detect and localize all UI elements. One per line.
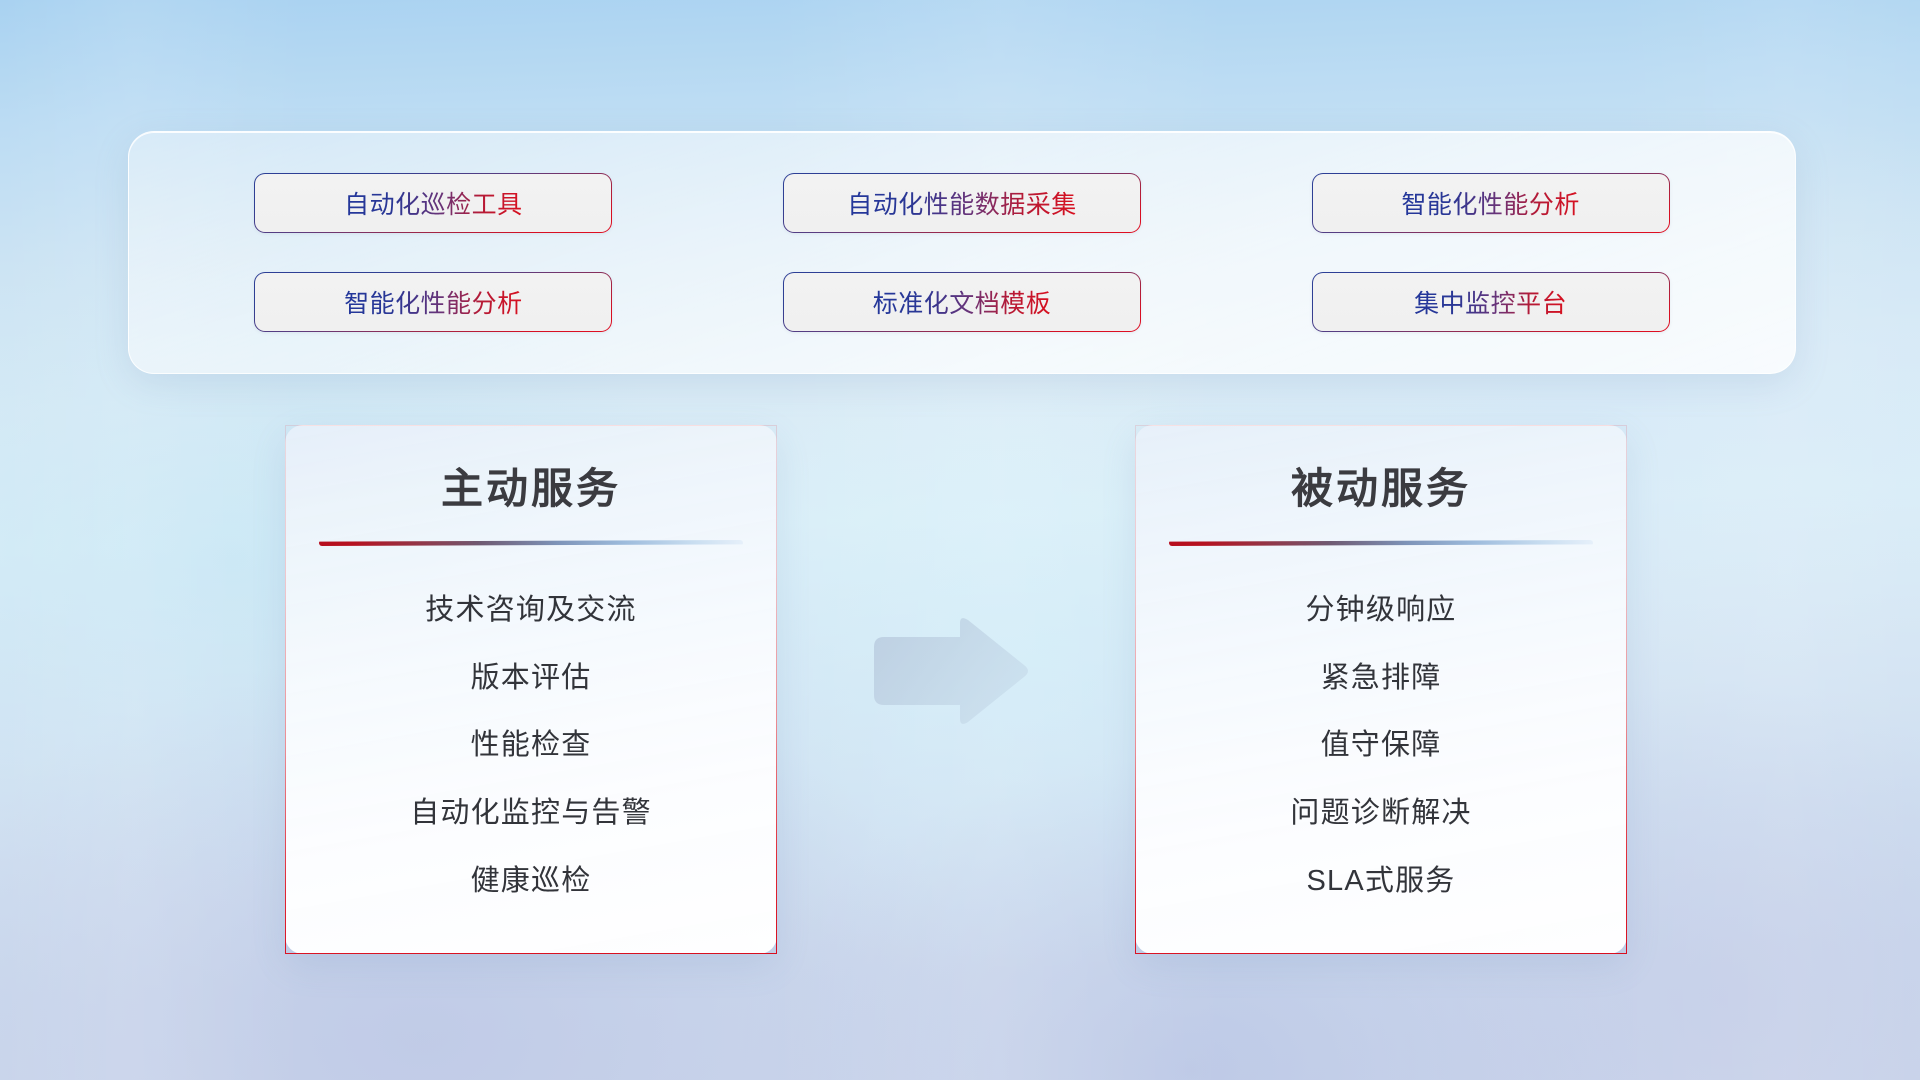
service-item-list: 技术咨询及交流 版本评估 性能检查 自动化监控与告警 健康巡检 [316, 546, 746, 925]
capability-chip-1[interactable]: 自动化巡检工具 [254, 173, 612, 233]
service-item: 分钟级响应 [1305, 586, 1456, 628]
service-item: 值守保障 [1321, 721, 1442, 763]
capability-chip-5[interactable]: 标准化文档模板 [783, 272, 1141, 332]
capability-chip-label: 智能化性能分析 [344, 284, 523, 320]
service-card-proactive: 主动服务 技术咨询及交流 版本评估 性能检查 自动化监控与告警 健康巡检 [285, 425, 777, 954]
flow-arrow-right-icon [872, 615, 1030, 727]
service-item: 版本评估 [471, 654, 592, 696]
capability-chip-label: 自动化性能数据采集 [847, 185, 1077, 221]
capability-chip-2[interactable]: 自动化性能数据采集 [783, 173, 1141, 233]
service-card-reactive: 被动服务 分钟级响应 紧急排障 值守保障 问题诊断解决 SLA式服务 [1135, 425, 1627, 954]
service-item: 健康巡检 [471, 857, 592, 899]
card-title: 主动服务 [441, 468, 621, 510]
service-item: 性能检查 [471, 721, 592, 763]
capability-chip-label: 智能化性能分析 [1401, 185, 1580, 221]
service-item-list: 分钟级响应 紧急排障 值守保障 问题诊断解决 SLA式服务 [1166, 546, 1596, 925]
flow-arrow-right-icon [872, 615, 1030, 727]
capability-chip-label: 集中监控平台 [1414, 284, 1567, 320]
capability-chip-6[interactable]: 集中监控平台 [1312, 272, 1670, 332]
capability-chip-label: 标准化文档模板 [873, 284, 1052, 320]
service-item: 技术咨询及交流 [425, 586, 636, 628]
capability-chip-3[interactable]: 智能化性能分析 [1312, 173, 1670, 233]
service-item: 紧急排障 [1321, 654, 1442, 696]
card-title: 被动服务 [1291, 468, 1471, 510]
capability-panel: 自动化巡检工具 自动化性能数据采集 智能化性能分析 智能化性能分析 标准化文档模… [128, 131, 1796, 374]
capability-chip-4[interactable]: 智能化性能分析 [254, 272, 612, 332]
capability-chip-label: 自动化巡检工具 [344, 185, 523, 221]
service-item: 问题诊断解决 [1290, 789, 1471, 831]
service-item: SLA式服务 [1306, 857, 1455, 899]
diagram-canvas: 自动化巡检工具 自动化性能数据采集 智能化性能分析 智能化性能分析 标准化文档模… [0, 0, 1920, 1080]
service-item: 自动化监控与告警 [410, 789, 652, 831]
